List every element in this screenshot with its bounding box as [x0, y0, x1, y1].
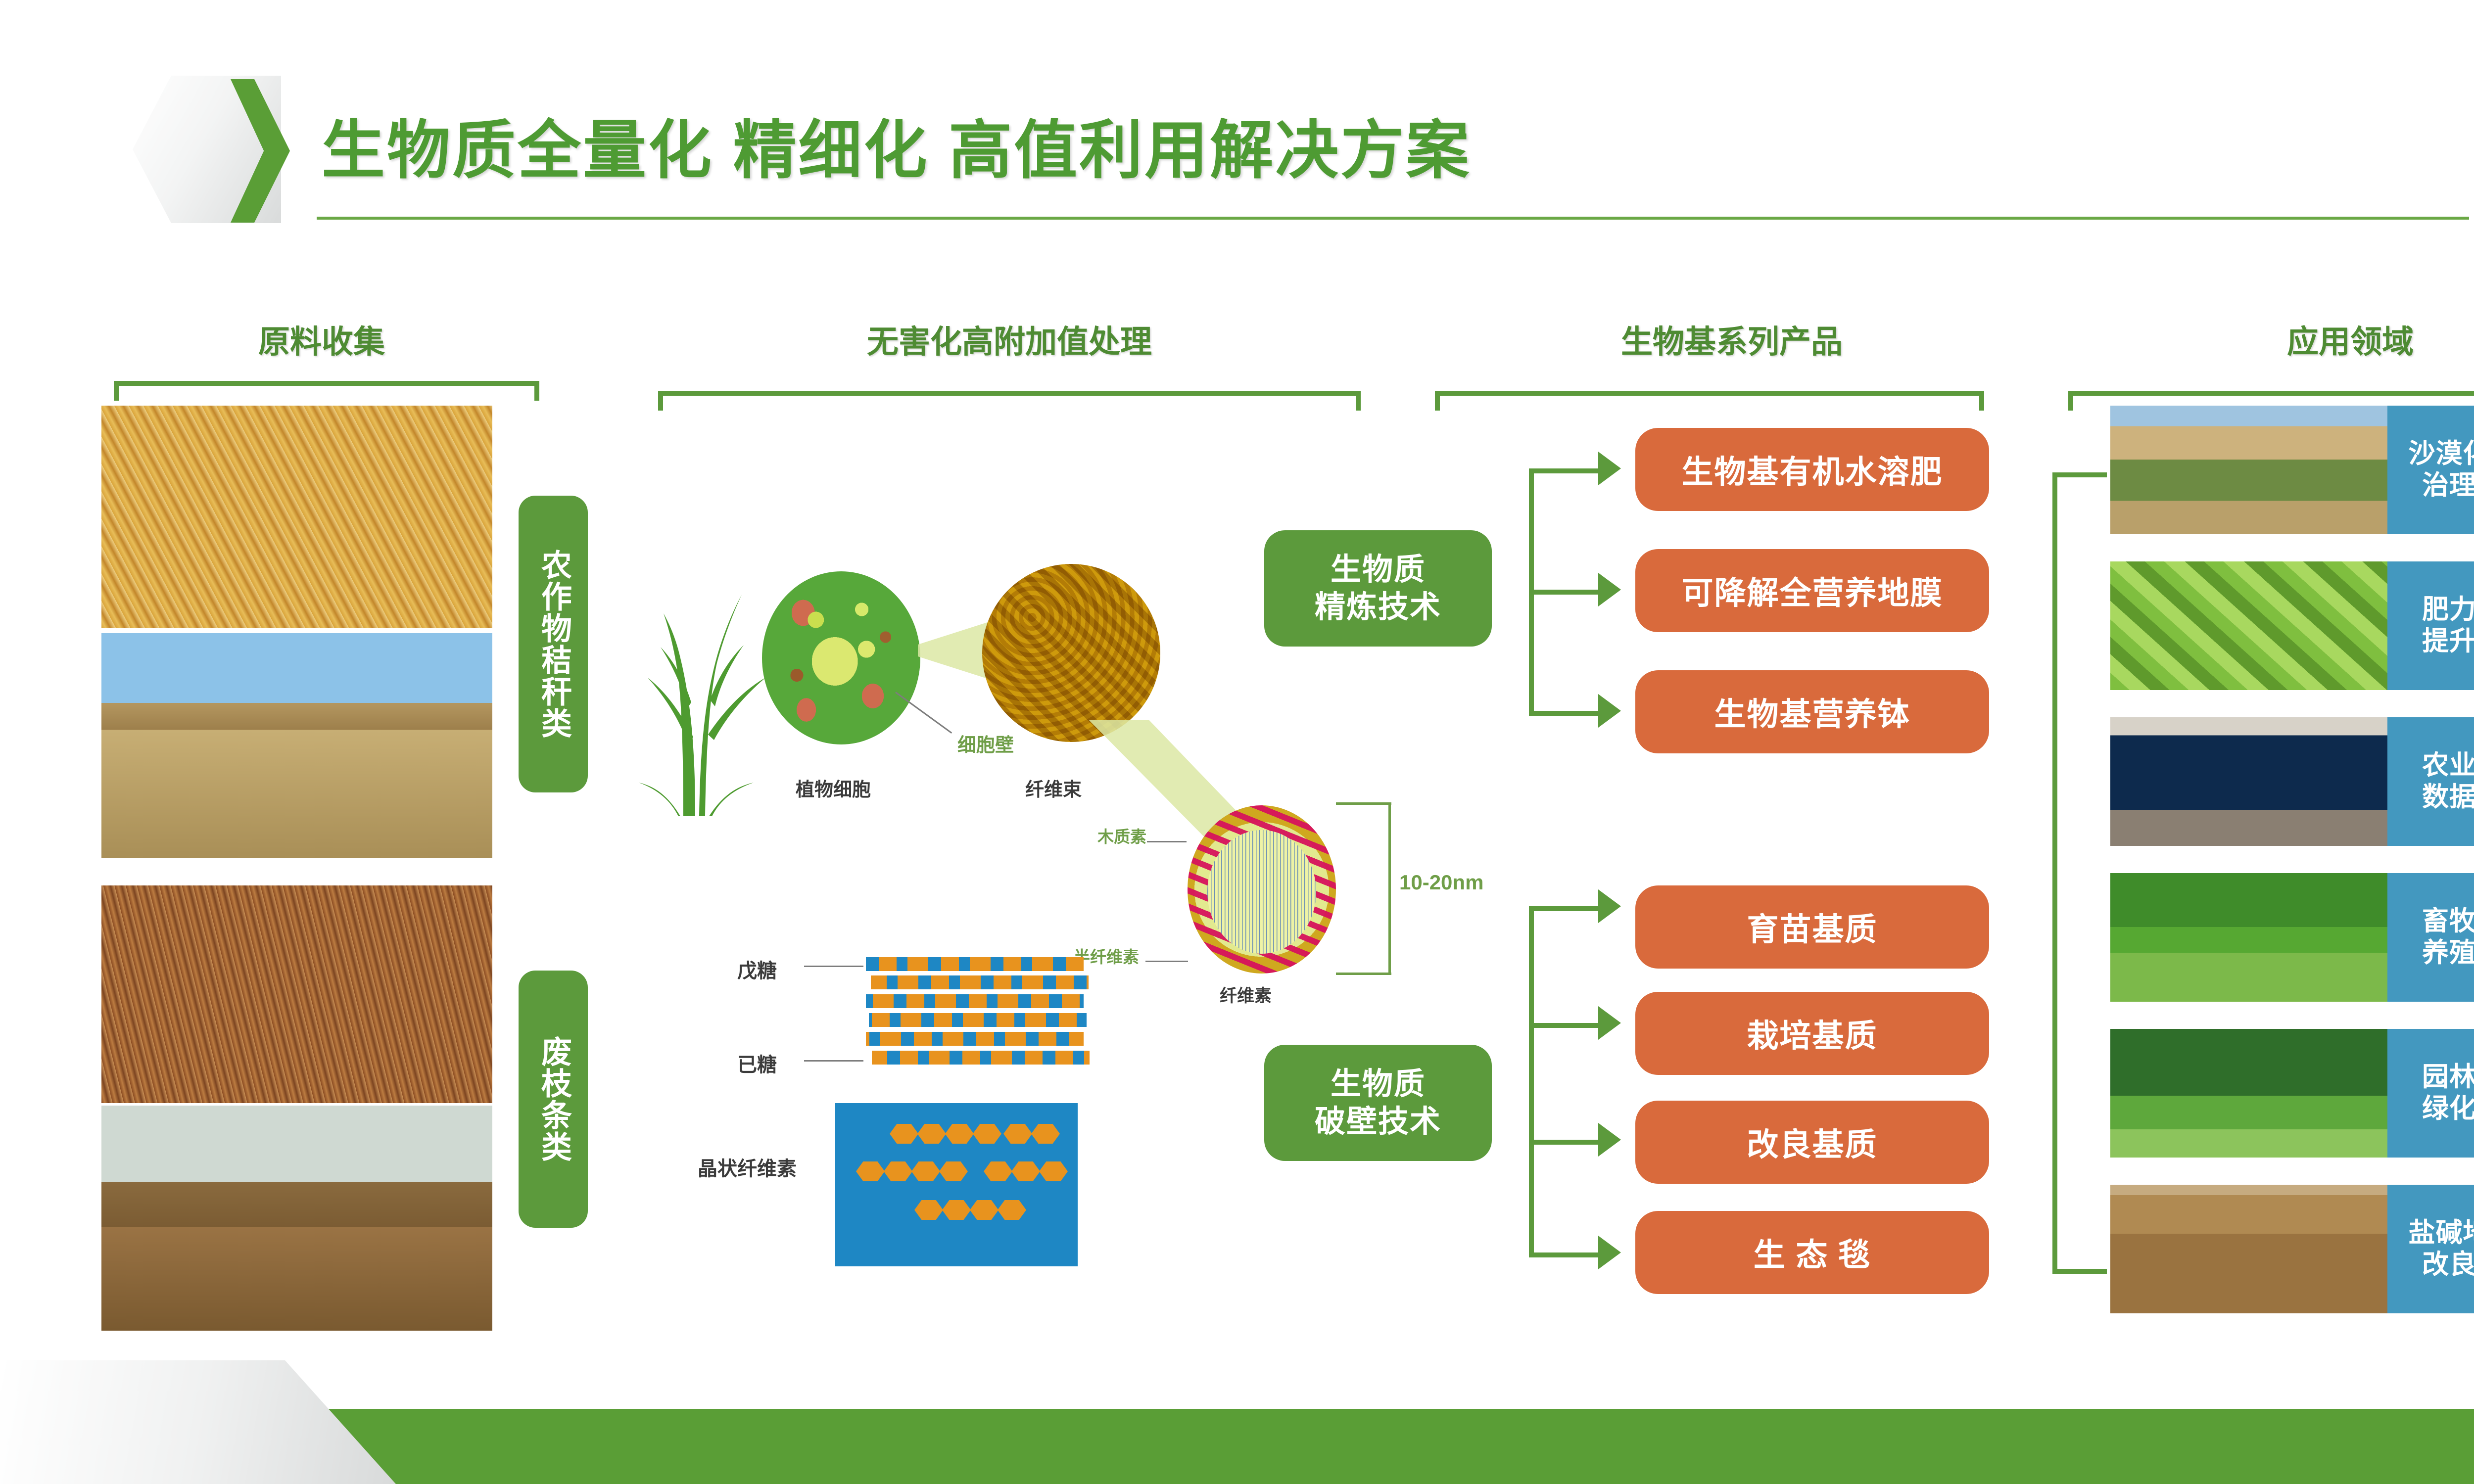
label-cell-wall: 细胞壁: [957, 730, 1014, 757]
application-label-line1: 盐碱地: [2409, 1217, 2474, 1249]
sugar-chain-row: [866, 994, 1084, 1008]
application-tag-agri-data: 农业 数据: [2387, 717, 2474, 846]
label-fiber-bundle: 纤维束: [1025, 774, 1082, 801]
category-tag-crop-straw: 农作物秸秆类: [519, 496, 588, 792]
bracket-products: [1435, 391, 1984, 411]
infographic-page: 生物质全量化 精细化 高值利用解决方案 原料收集 无害化高附加值处理 生物基系列…: [0, 0, 2474, 1484]
plant-cell-illustration: [762, 571, 920, 744]
sugar-chain-row: [869, 1013, 1087, 1027]
application-tag-fertility: 肥力 提升: [2387, 561, 2474, 690]
connector-applications-spine: [2052, 472, 2057, 1274]
application-row-landscaping[interactable]: 园林 绿化: [2110, 1029, 2474, 1158]
application-tag-livestock: 畜牧 养殖: [2387, 873, 2474, 1002]
column-header-products: 生物基系列产品: [1410, 317, 2053, 362]
tech-label-line2: 破壁技术: [1315, 1103, 1441, 1141]
label-hexose: 已糖: [737, 1049, 777, 1077]
photo-park-landscape: [2110, 1029, 2387, 1158]
cellulose-core-lattice: [1207, 830, 1316, 954]
connector-wallbreak-branch-4: [1529, 1252, 1598, 1257]
tech-label-line2: 精炼技术: [1315, 589, 1441, 626]
glucose-hex: [998, 1200, 1026, 1220]
sugar-chain-row: [872, 1051, 1090, 1065]
glucose-hex: [914, 1200, 943, 1220]
glucose-hex: [970, 1200, 999, 1220]
grass-plant-icon: [621, 539, 784, 816]
photo-desert-restoration: [2110, 406, 2387, 534]
bracket-processing: [658, 391, 1361, 411]
photo-agri-data-center: [2110, 717, 2387, 846]
connector-refining-branch-2: [1529, 590, 1598, 595]
connector-applications-bottom: [2052, 1269, 2107, 1274]
zoom-beam-cell-to-bundle: [918, 621, 992, 680]
footer-wedge-decoration: [0, 1360, 396, 1484]
dimension-vertical-line: [1388, 802, 1391, 974]
title-divider: [317, 217, 2469, 220]
glucose-hex: [1039, 1161, 1068, 1181]
glucose-hex: [939, 1161, 968, 1181]
application-label-line2: 数据: [2422, 782, 2474, 813]
photo-pruned-branches: [101, 885, 492, 1103]
arrow-head-icon: [1598, 889, 1621, 923]
product-pill-cultivation-substrate[interactable]: 栽培基质: [1635, 992, 1989, 1075]
application-row-livestock[interactable]: 畜牧 养殖: [2110, 873, 2474, 1002]
application-label-line2: 治理: [2422, 470, 2474, 502]
column-header-processing: 无害化高附加值处理: [663, 317, 1356, 362]
glucose-hex: [911, 1161, 940, 1181]
tech-pill-biomass-wall-breaking[interactable]: 生物质 破壁技术: [1264, 1045, 1492, 1161]
tech-label-line1: 生物质: [1331, 551, 1426, 589]
page-title: 生物质全量化 精细化 高值利用解决方案: [322, 99, 1471, 190]
fiber-bundle-illustration: [982, 564, 1160, 742]
application-label-line2: 绿化: [2422, 1093, 2474, 1125]
sugar-chain-row: [871, 975, 1089, 989]
glucose-hex: [1011, 1161, 1040, 1181]
application-tag-saline-alkali: 盐碱地 改良: [2387, 1185, 2474, 1313]
leader-line-hexose: [804, 1060, 863, 1062]
application-label-line1: 畜牧: [2422, 906, 2474, 937]
dimension-top-tick: [1336, 802, 1391, 805]
application-tag-desertification: 沙漠化 治理: [2387, 406, 2474, 534]
connector-applications-top: [2052, 472, 2107, 477]
label-lignin: 木质素: [1097, 824, 1146, 847]
tech-pill-biomass-refining[interactable]: 生物质 精炼技术: [1264, 530, 1492, 647]
column-header-raw-material: 原料收集: [148, 317, 495, 362]
leader-line-cell-wall: [895, 692, 952, 734]
connector-refining-branch-3: [1529, 711, 1598, 716]
arrow-head-icon: [1598, 573, 1621, 606]
arrow-head-icon: [1598, 1123, 1621, 1157]
photo-sheep-pasture: [2110, 873, 2387, 1002]
product-pill-water-soluble-fertilizer[interactable]: 生物基有机水溶肥: [1635, 428, 1989, 511]
label-fiber-scale: 10-20nm: [1399, 871, 1483, 894]
leader-line-hemicellulose: [1145, 961, 1188, 962]
tech-label-line1: 生物质: [1331, 1066, 1426, 1103]
application-tag-landscaping: 园林 绿化: [2387, 1029, 2474, 1158]
glucose-hex: [856, 1161, 885, 1181]
bracket-raw-material: [114, 381, 539, 401]
photo-corn-straw-field: [101, 406, 492, 628]
glucose-hex: [1031, 1124, 1060, 1144]
photo-saline-alkali-land: [2110, 1185, 2387, 1313]
glucose-hex: [973, 1124, 1001, 1144]
application-label-line2: 提升: [2422, 626, 2474, 657]
label-crystalline-cellulose: 晶状纤维素: [698, 1153, 797, 1181]
photo-cabbage-field: [2110, 561, 2387, 690]
connector-wallbreak-spine: [1529, 906, 1534, 1257]
label-pentose: 戊糖: [737, 955, 777, 983]
application-label-line1: 肥力: [2422, 594, 2474, 626]
photo-straw-bale-field: [101, 633, 492, 858]
glucose-hex: [1003, 1124, 1032, 1144]
arrow-head-icon: [1598, 452, 1621, 485]
application-label-line1: 园林: [2422, 1062, 2474, 1093]
product-pill-improvement-substrate[interactable]: 改良基质: [1635, 1101, 1989, 1184]
arrow-head-icon: [1598, 1006, 1621, 1040]
application-row-saline-alkali[interactable]: 盐碱地 改良: [2110, 1185, 2474, 1313]
connector-wallbreak-branch-1: [1529, 906, 1598, 911]
glucose-hex: [942, 1200, 971, 1220]
application-label-line1: 沙漠化: [2409, 438, 2474, 470]
label-cellulose: 纤维素: [1220, 982, 1272, 1007]
leader-line-pentose: [804, 966, 863, 967]
leader-line-lignin: [1147, 841, 1187, 842]
sugar-chain-row: [866, 1032, 1084, 1046]
glucose-hex: [917, 1124, 946, 1144]
product-pill-degradable-mulch-film[interactable]: 可降解全营养地膜: [1635, 549, 1989, 632]
crystalline-cellulose-panel: [835, 1103, 1078, 1266]
category-tag-waste-branch: 废枝条类: [519, 971, 588, 1228]
glucose-hex: [890, 1124, 918, 1144]
product-pill-seedling-substrate[interactable]: 育苗基质: [1635, 885, 1989, 969]
application-row-fertility[interactable]: 肥力 提升: [2110, 561, 2474, 690]
arrow-head-icon: [1598, 694, 1621, 728]
glucose-hex: [984, 1161, 1012, 1181]
sugar-chain-row: [866, 957, 1084, 971]
application-label-line2: 养殖: [2422, 937, 2474, 969]
connector-wallbreak-branch-2: [1529, 1023, 1598, 1028]
application-row-agri-data[interactable]: 农业 数据: [2110, 717, 2474, 846]
application-row-desertification[interactable]: 沙漠化 治理: [2110, 406, 2474, 534]
glucose-hex: [884, 1161, 912, 1181]
application-label-line1: 农业: [2422, 750, 2474, 782]
product-pill-ecological-blanket[interactable]: 生 态 毯: [1635, 1211, 1989, 1294]
connector-wallbreak-branch-3: [1529, 1140, 1598, 1145]
label-plant-cell: 植物细胞: [796, 774, 871, 801]
column-header-applications: 应用领域: [2103, 317, 2474, 362]
application-label-line2: 改良: [2422, 1249, 2474, 1281]
dimension-bottom-tick: [1336, 973, 1391, 975]
glucose-hex: [945, 1124, 974, 1144]
arrow-head-icon: [1598, 1236, 1621, 1269]
connector-refining-branch-1: [1529, 468, 1598, 473]
photo-orchard-pruning-site: [101, 1106, 492, 1331]
product-pill-nutrient-pot[interactable]: 生物基营养钵: [1635, 670, 1989, 753]
